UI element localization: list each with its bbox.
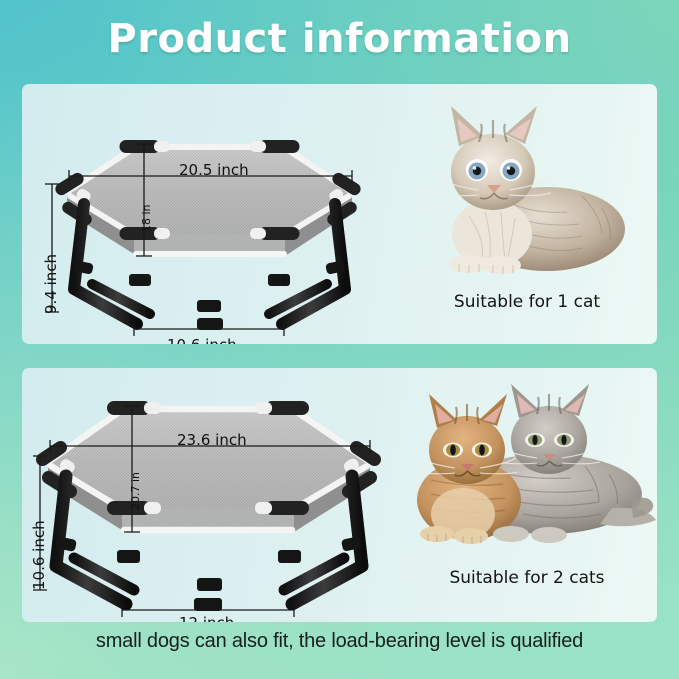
page-title: Product information (0, 16, 679, 62)
cat-photo-single: Suitable for 1 cat (397, 84, 657, 344)
product-diagram-large: 23.6 inch 20.7 in 10.6 inch 12 inch (22, 368, 397, 622)
product-panel-large: 23.6 inch 20.7 in 10.6 inch 12 inch (22, 368, 657, 622)
two-cats-illustration (397, 368, 657, 568)
product-diagram-small: 20.5 inch 18 in 9.4 inch 10.6 inch (22, 84, 397, 344)
product-information-page: Product information (0, 0, 679, 679)
cat-photo-pair: Suitable for 2 cats (397, 368, 657, 622)
pet-bed-illustration-large (22, 368, 397, 622)
dimension-base-width-large: 12 inch (179, 614, 234, 622)
dimension-height-small: 9.4 inch (42, 254, 60, 314)
dimension-top-width-large: 23.6 inch (177, 431, 247, 449)
footnote-text: small dogs can also fit, the load-bearin… (0, 630, 679, 653)
dimension-inner-depth-small: 18 in (140, 204, 153, 232)
dimension-base-width-small: 10.6 inch (167, 336, 237, 344)
product-panel-small: 20.5 inch 18 in 9.4 inch 10.6 inch (22, 84, 657, 344)
one-cat-illustration (397, 84, 657, 289)
dimension-top-width-small: 20.5 inch (179, 161, 249, 179)
dimension-inner-depth-large: 20.7 in (129, 472, 142, 510)
caption-suitable-for-2-cats: Suitable for 2 cats (397, 568, 657, 588)
pet-bed-illustration-small (22, 84, 397, 344)
caption-suitable-for-1-cat: Suitable for 1 cat (397, 292, 657, 312)
dimension-height-large: 10.6 inch (30, 520, 48, 590)
